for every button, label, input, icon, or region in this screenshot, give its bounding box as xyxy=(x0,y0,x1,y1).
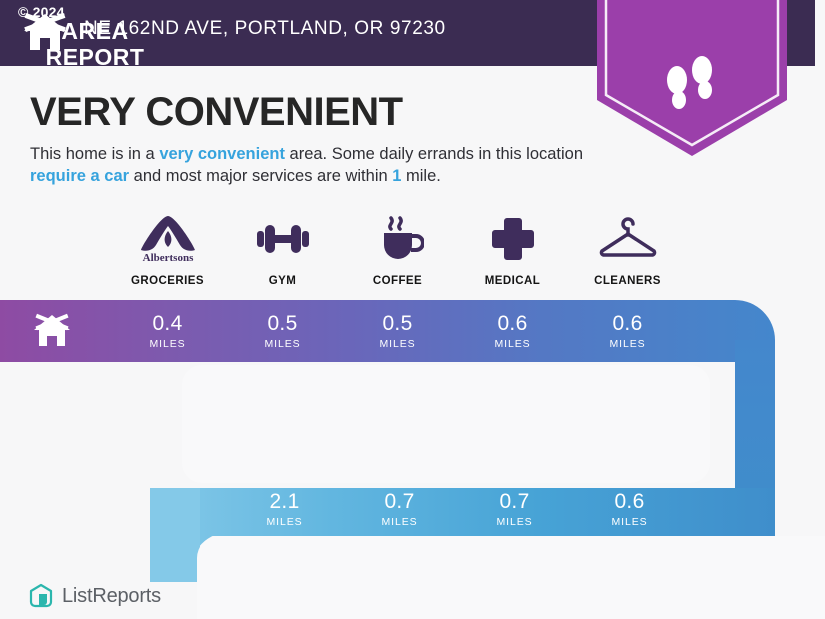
category-coffee[interactable]: COFFEE xyxy=(340,212,455,287)
distance-cell-atm: 0.7 MILES xyxy=(457,481,572,537)
clothes-hanger-icon xyxy=(597,212,659,266)
listreports-tag-icon xyxy=(28,583,54,609)
distance-unit: MILES xyxy=(264,338,300,350)
distance-value: 2.1 xyxy=(269,491,299,513)
distance-row-secondary: 2.1 MILES 0.7 MILES 0.7 MILES 0.6 MILES xyxy=(227,481,687,537)
distance-value: 0.6 xyxy=(497,313,527,335)
distance-value: 0.5 xyxy=(267,313,297,335)
summary-highlight-car: require a car xyxy=(30,167,129,185)
copyright-label: © 2024 xyxy=(18,4,65,20)
home-marker-cell xyxy=(0,300,104,362)
summary-text: This home is in a very convenient area. … xyxy=(30,143,590,187)
distance-value: 0.7 xyxy=(499,491,529,513)
summary-part-2: area. Some daily errands in this locatio… xyxy=(285,145,583,163)
distance-row-primary: 0.4 MILES 0.5 MILES 0.5 MILES 0.6 MILES … xyxy=(110,300,685,362)
distance-unit: MILES xyxy=(494,338,530,350)
distance-cell-gas: 0.6 MILES xyxy=(572,481,687,537)
distance-cell-gym: 0.5 MILES xyxy=(225,300,340,362)
medical-cross-icon xyxy=(490,212,536,266)
category-gym[interactable]: GYM xyxy=(225,212,340,287)
distance-cell-pharmacy: 0.7 MILES xyxy=(342,481,457,537)
category-label: COFFEE xyxy=(373,275,422,287)
distance-value: 0.6 xyxy=(614,491,644,513)
summary-part-3: and most major services are within xyxy=(129,167,392,185)
distance-unit: MILES xyxy=(611,516,647,528)
brand-logo[interactable]: ListReports xyxy=(28,583,161,609)
category-cleaners[interactable]: CLEANERS xyxy=(570,212,685,287)
distance-unit: MILES xyxy=(379,338,415,350)
category-label: GYM xyxy=(269,275,297,287)
svg-text:Albertsons: Albertsons xyxy=(142,252,193,264)
distance-value: 0.4 xyxy=(152,313,182,335)
page-title: VERY CONVENIENT xyxy=(30,90,403,135)
category-label: MEDICAL xyxy=(485,275,541,287)
summary-part-4: mile. xyxy=(401,167,440,185)
area-report-page: © 2024 NE 162ND AVE, PORTLAND, OR 97230 … xyxy=(0,0,825,619)
distance-value: 0.6 xyxy=(612,313,642,335)
category-label: CLEANERS xyxy=(594,275,661,287)
summary-highlight-convenience: very convenient xyxy=(159,145,285,163)
distance-unit: MILES xyxy=(496,516,532,528)
summary-part-1: This home is in a xyxy=(30,145,159,163)
category-medical[interactable]: MEDICAL xyxy=(455,212,570,287)
albertsons-logo-icon: Albertsons xyxy=(139,212,197,266)
dumbbell-icon xyxy=(255,212,311,266)
brand-name: ListReports xyxy=(62,585,161,608)
property-address: NE 162ND AVE, PORTLAND, OR 97230 xyxy=(84,18,446,40)
category-label: GROCERIES xyxy=(131,275,204,287)
category-groceries[interactable]: Albertsons GROCERIES xyxy=(110,212,225,287)
area-report-badge xyxy=(597,0,787,156)
home-icon xyxy=(32,313,72,349)
middle-panel xyxy=(182,365,710,483)
coffee-cup-icon xyxy=(372,212,424,266)
distance-cell-cleaners: 0.6 MILES xyxy=(570,300,685,362)
category-row-primary: Albertsons GROCERIES GYM xyxy=(110,212,685,287)
distance-unit: MILES xyxy=(381,516,417,528)
distance-value: 0.5 xyxy=(382,313,412,335)
distance-cell-coffee: 0.5 MILES xyxy=(340,300,455,362)
distance-unit: MILES xyxy=(266,516,302,528)
distance-unit: MILES xyxy=(149,338,185,350)
distance-unit: MILES xyxy=(609,338,645,350)
distance-value: 0.7 xyxy=(384,491,414,513)
bottom-panel xyxy=(197,536,825,619)
distance-cell-groceries: 0.4 MILES xyxy=(110,300,225,362)
distance-cell-medical: 0.6 MILES xyxy=(455,300,570,362)
distance-cell-movie-theater: 2.1 MILES xyxy=(227,481,342,537)
